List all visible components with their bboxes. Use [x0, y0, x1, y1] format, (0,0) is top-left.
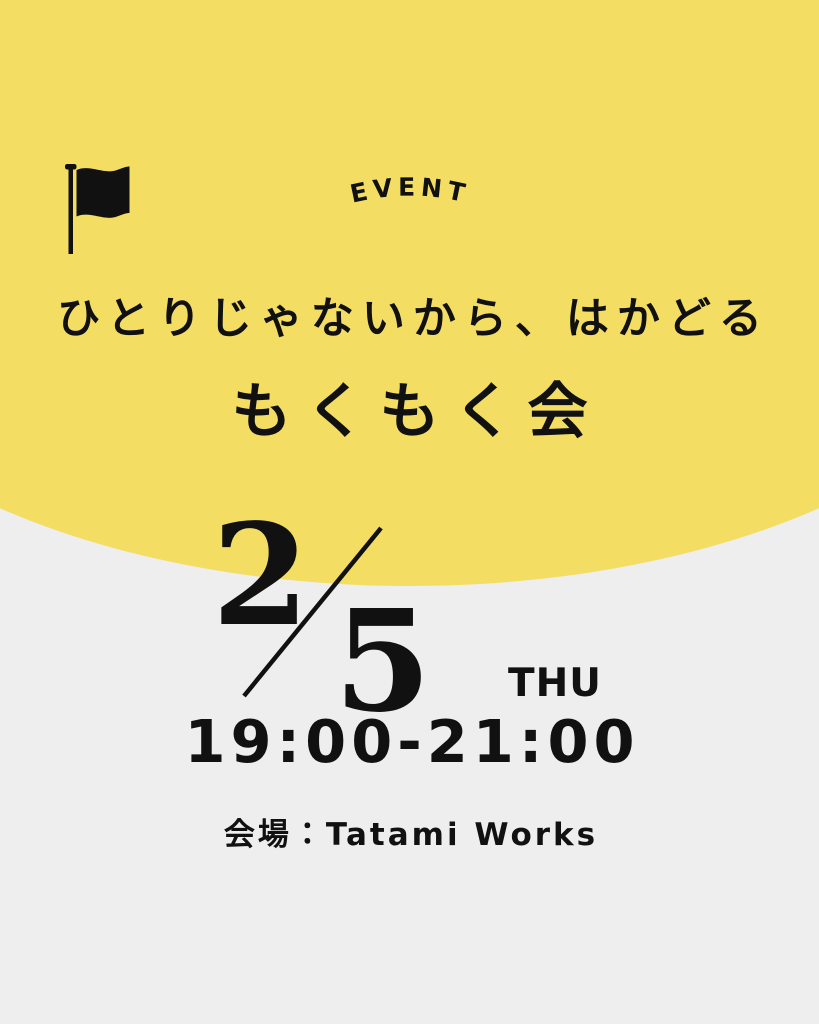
event-time-range: 19:00-21:00 [0, 712, 819, 771]
headline-secondary: もくもく会 [0, 382, 819, 442]
yellow-arc-background [0, 0, 819, 586]
headline-primary: ひとりじゃないから、はかどる [0, 298, 819, 341]
event-eyebrow-arc: EVENT [0, 150, 819, 220]
event-eyebrow-textpath: EVENT [348, 173, 473, 209]
event-poster: EVENT ひとりじゃないから、はかどる もくもく会 2 5 THU 19:00… [0, 0, 819, 1024]
date-weekday-label: THU [508, 664, 602, 703]
event-eyebrow-label: EVENT [348, 173, 473, 209]
event-venue-label: 会場：Tatami Works [0, 820, 819, 851]
